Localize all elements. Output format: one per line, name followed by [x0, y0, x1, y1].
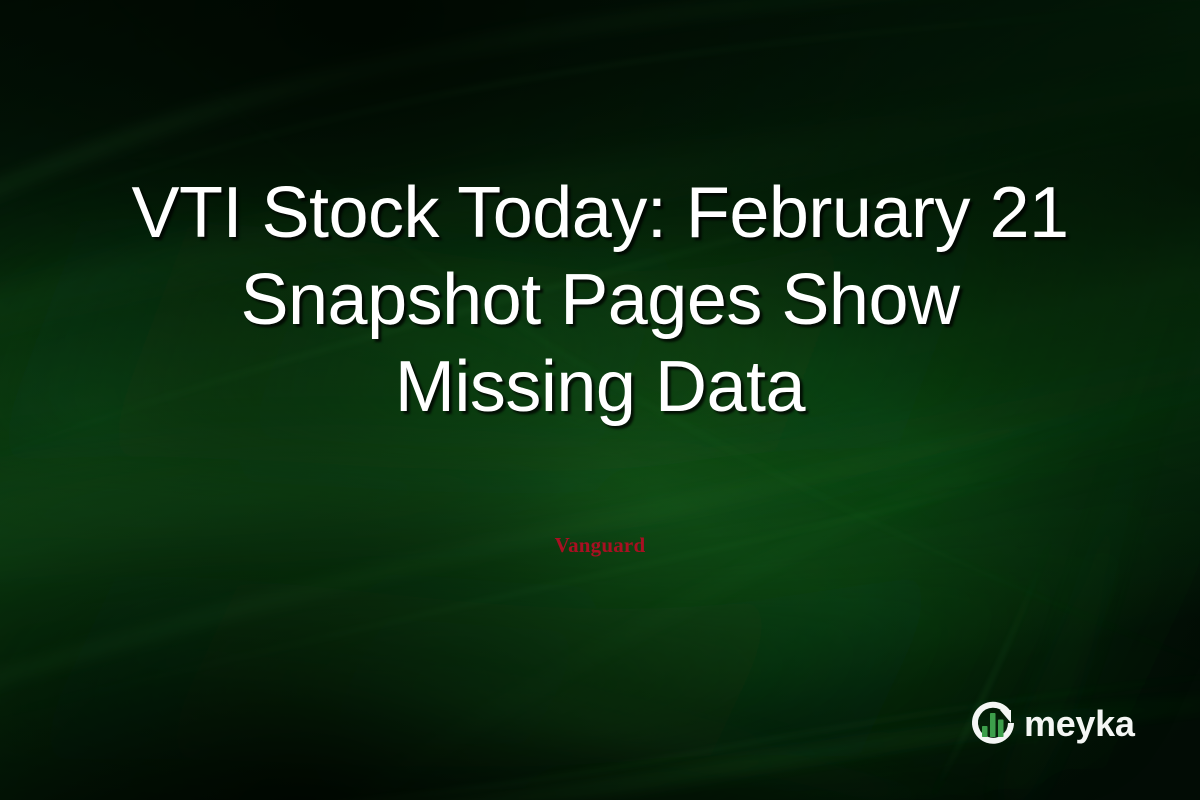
page-title: VTI Stock Today: February 21 Snapshot Pa… — [0, 170, 1200, 431]
headline-line-3: Missing Data — [0, 344, 1200, 431]
headline-line-2: Snapshot Pages Show — [0, 257, 1200, 344]
logo-bar-1 — [982, 726, 988, 737]
logo-bar-3 — [998, 720, 1004, 738]
share-card: VTI Stock Today: February 21 Snapshot Pa… — [0, 0, 1200, 800]
headline-line-1: VTI Stock Today: February 21 — [0, 170, 1200, 257]
meyka-bar-chart-ring-icon — [968, 698, 1018, 748]
meyka-logo[interactable]: meyka — [968, 698, 1135, 748]
logo-bar-2 — [990, 713, 996, 737]
meyka-wordmark-text: meyka — [1024, 706, 1135, 742]
vanguard-brand-label: Vanguard — [0, 533, 1200, 558]
